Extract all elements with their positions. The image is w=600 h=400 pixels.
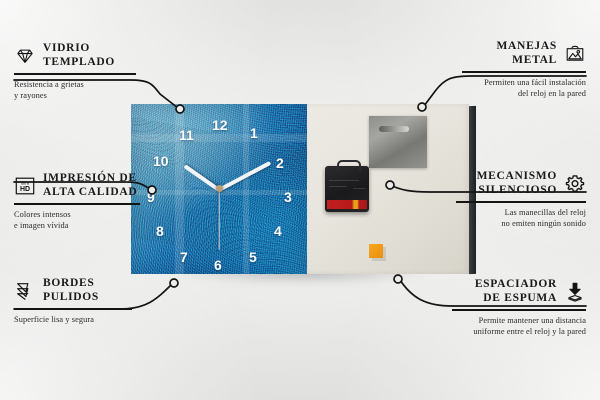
clock-numeral-3: 3	[284, 190, 292, 204]
feature-description: Resistencia a grietas y rayones	[14, 79, 136, 101]
clock-numeral-10: 10	[153, 154, 169, 168]
feature-title-line1: ESPACIADOR	[475, 278, 557, 292]
feature-desc-line1: Resistencia a grietas	[14, 79, 136, 90]
feature-desc-line1: Las manecillas del reloj	[456, 207, 586, 218]
feature-header: BORDES PULIDOS	[14, 277, 132, 304]
feature-title: BORDES PULIDOS	[43, 277, 99, 304]
feature-espaciador-espuma[interactable]: ESPACIADOR DE ESPUMA Permite mantener un…	[452, 278, 586, 337]
infographic-canvas: 12 1 2 3 4 5 6 7 8 9 10 11	[0, 0, 600, 400]
feature-mecanismo-silencioso[interactable]: MECANISMO SILENCIOSO Las manecillas del …	[456, 170, 586, 229]
clock-mechanism	[325, 166, 369, 212]
feature-desc-line1: Permite mantener una distancia	[452, 315, 586, 326]
clock-numeral-12: 12	[212, 118, 228, 132]
clock-numeral-4: 4	[274, 224, 282, 238]
feature-title: MECANISMO SILENCIOSO	[477, 170, 557, 197]
clock-numeral-6: 6	[214, 258, 222, 272]
feature-vidrio-templado[interactable]: VIDRIO TEMPLADO Resistencia a grietas y …	[14, 42, 136, 101]
feature-rule	[462, 71, 586, 73]
mechanism-label	[327, 200, 367, 209]
feature-desc-line2: e imagen vívida	[14, 220, 140, 231]
clock-numeral-7: 7	[180, 250, 188, 264]
feature-title-line2: SILENCIOSO	[477, 184, 557, 198]
feature-title: ESPACIADOR DE ESPUMA	[475, 278, 557, 305]
feature-desc-line1: Permiten una fácil instalación	[462, 77, 586, 88]
feature-title-line2: DE ESPUMA	[475, 292, 557, 306]
hanger-slot	[379, 126, 409, 132]
feature-rule	[452, 309, 586, 311]
clock-second-hand	[218, 190, 219, 250]
feature-header: MANEJAS METAL	[462, 40, 586, 67]
feature-description: Colores intensos e imagen vívida	[14, 209, 140, 231]
feature-header: MECANISMO SILENCIOSO	[456, 170, 586, 197]
clock-numeral-1: 1	[250, 126, 258, 140]
feature-desc-line1: Colores intensos	[14, 209, 140, 220]
gear-icon	[564, 173, 586, 195]
svg-text:HD: HD	[20, 186, 30, 193]
feature-header: ultra HD IMPRESIÓN DE ALTA CALIDAD	[14, 172, 140, 199]
ultra-hd-icon: ultra HD	[14, 175, 36, 197]
feature-impresion-alta-calidad[interactable]: ultra HD IMPRESIÓN DE ALTA CALIDAD Color…	[14, 172, 140, 231]
clock-face: 12 1 2 3 4 5 6 7 8 9 10 11	[131, 104, 307, 274]
feature-manejas-metal[interactable]: MANEJAS METAL Permiten una fácil instala…	[462, 40, 586, 99]
feature-rule	[14, 203, 140, 205]
feature-title-line2: TEMPLADO	[43, 56, 115, 70]
foam-spacer-icon	[564, 281, 586, 303]
feature-header: VIDRIO TEMPLADO	[14, 42, 136, 69]
feature-description: Permiten una fácil instalación del reloj…	[462, 77, 586, 99]
feature-rule	[14, 308, 132, 310]
feature-header: ESPACIADOR DE ESPUMA	[452, 278, 586, 305]
polished-edges-icon	[14, 280, 36, 302]
clock-numeral-2: 2	[276, 156, 284, 170]
band-horizontal-1	[131, 134, 307, 142]
diamond-icon	[14, 45, 36, 67]
feature-rule	[14, 73, 136, 75]
feature-title-line1: MECANISMO	[477, 170, 557, 184]
foam-spacer	[369, 244, 383, 258]
product-image: 12 1 2 3 4 5 6 7 8 9 10 11	[131, 104, 469, 274]
feature-title: MANEJAS METAL	[497, 40, 558, 67]
feature-title: VIDRIO TEMPLADO	[43, 42, 115, 69]
feature-description: Las manecillas del reloj no emiten ningú…	[456, 207, 586, 229]
feature-description: Superficie lisa y segura	[14, 314, 132, 325]
feature-title-line1: MANEJAS	[497, 40, 558, 54]
clock-numeral-8: 8	[156, 224, 164, 238]
feature-desc-line2: del reloj en la pared	[462, 88, 586, 99]
feature-bordes-pulidos[interactable]: BORDES PULIDOS Superficie lisa y segura	[14, 277, 132, 325]
clock-center-hub	[216, 185, 223, 192]
feature-title-line2: PULIDOS	[43, 291, 99, 305]
feature-title-line1: BORDES	[43, 277, 99, 291]
mechanism-detail-3	[353, 188, 365, 189]
mechanism-detail-2	[329, 186, 347, 187]
feature-description: Permite mantener una distancia uniforme …	[452, 315, 586, 337]
clock-numeral-5: 5	[249, 250, 257, 264]
feature-title: IMPRESIÓN DE ALTA CALIDAD	[43, 172, 137, 199]
feature-desc-line1: Superficie lisa y segura	[14, 314, 132, 325]
clock-numeral-9: 9	[147, 190, 155, 204]
mechanism-detail-1	[329, 180, 359, 181]
feature-desc-line2: uniforme entre el reloj y la pared	[452, 326, 586, 337]
mechanism-handle	[337, 160, 361, 171]
feature-desc-line2: no emiten ningún sonido	[456, 218, 586, 229]
feature-desc-line2: y rayones	[14, 90, 136, 101]
feature-title-line2: METAL	[497, 54, 558, 68]
feature-title-line2: ALTA CALIDAD	[43, 186, 137, 200]
feature-title-line1: IMPRESIÓN DE	[43, 172, 137, 186]
picture-hanger-icon	[564, 43, 586, 65]
clock-numeral-11: 11	[179, 128, 194, 142]
feature-rule	[456, 201, 586, 203]
clock-back-panel	[307, 104, 469, 274]
metal-hanger-plate	[369, 116, 427, 168]
feature-title-line1: VIDRIO	[43, 42, 115, 56]
svg-text:ultra: ultra	[21, 180, 30, 185]
